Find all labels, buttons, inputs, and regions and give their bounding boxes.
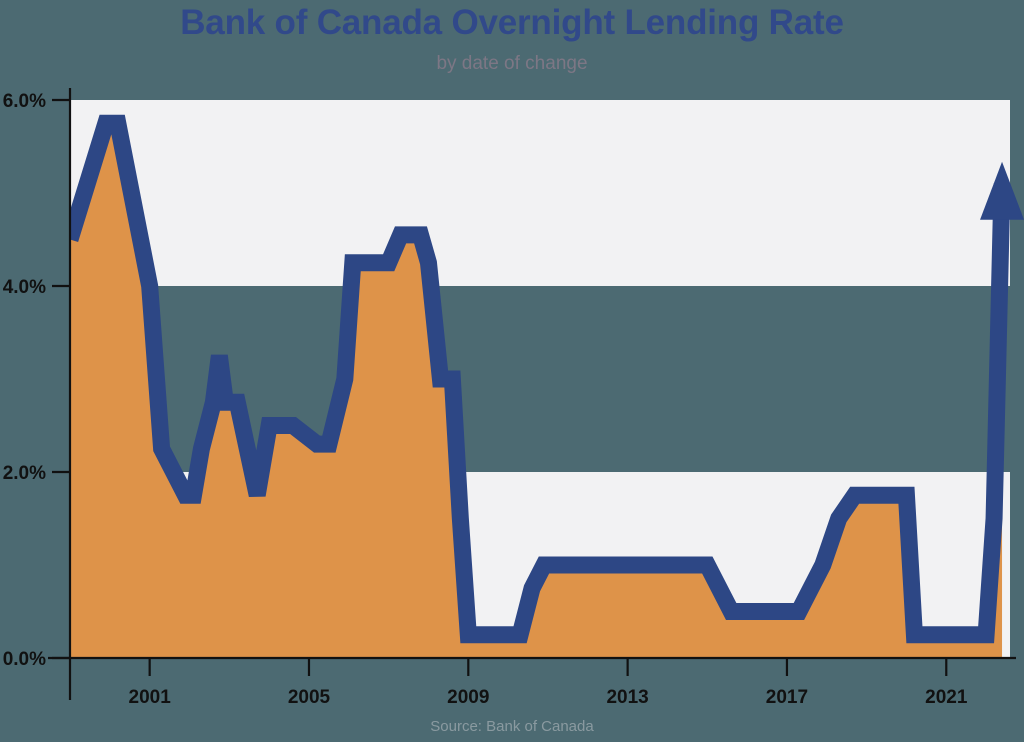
x-axis-ticks: 200120052009201320172021 (129, 658, 968, 708)
y-tick-label: 0.0% (3, 649, 46, 670)
x-tick-label: 2021 (925, 687, 968, 708)
background-band-2 (70, 100, 1010, 286)
x-tick-label: 2009 (447, 687, 489, 708)
x-tick-label: 2005 (288, 687, 331, 708)
x-tick-label: 2017 (766, 687, 808, 708)
x-tick-label: 2001 (129, 687, 172, 708)
y-tick-label: 6.0% (3, 91, 46, 112)
chart-source-note: Source: Bank of Canada (0, 718, 1024, 735)
y-tick-label: 2.0% (3, 463, 46, 484)
y-tick-label: 4.0% (3, 277, 46, 298)
y-axis-ticks: 0.0%2.0%4.0%6.0% (3, 91, 70, 670)
x-tick-label: 2013 (606, 687, 648, 708)
chart-root: Bank of Canada Overnight Lending Rate by… (0, 0, 1024, 742)
chart-plot-area: 0.0%2.0%4.0%6.0% 20012005200920132017202… (0, 0, 1024, 742)
